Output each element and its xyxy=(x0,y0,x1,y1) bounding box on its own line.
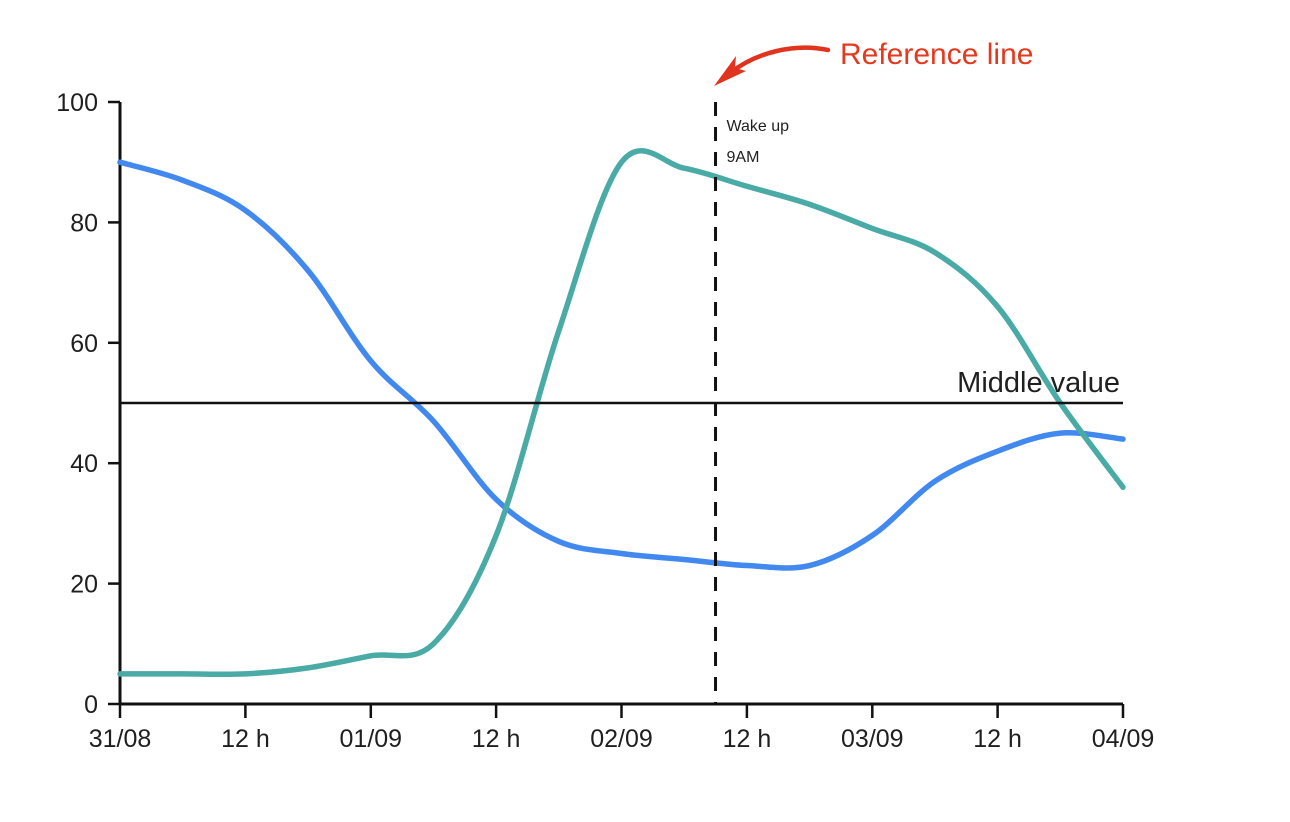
y-axis-ticks xyxy=(108,102,120,704)
line-chart: 0 20 40 60 80 100 31/08 12 h 01/09 12 h … xyxy=(0,0,1290,822)
x-tick-label: 01/09 xyxy=(340,725,403,753)
y-tick-label: 100 xyxy=(56,89,98,117)
reference-note-line2: 9AM xyxy=(727,149,760,166)
reference-line-callout: Reference line xyxy=(714,38,1033,86)
callout-arrow-icon xyxy=(730,48,828,73)
x-tick-label: 12 h xyxy=(472,725,521,753)
series-line-blue xyxy=(120,162,1123,568)
y-tick-label: 20 xyxy=(70,571,98,599)
x-axis-ticks xyxy=(120,704,1123,718)
x-tick-label: 12 h xyxy=(221,725,270,753)
chart-container: 0 20 40 60 80 100 31/08 12 h 01/09 12 h … xyxy=(0,0,1290,822)
x-tick-label: 02/09 xyxy=(590,725,653,753)
middle-value-group: Middle value xyxy=(120,367,1123,403)
y-tick-label: 60 xyxy=(70,330,98,358)
y-axis-tick-labels: 0 20 40 60 80 100 xyxy=(56,89,98,719)
middle-value-label: Middle value xyxy=(957,367,1120,399)
x-axis-tick-labels: 31/08 12 h 01/09 12 h 02/09 12 h 03/09 1… xyxy=(89,725,1155,753)
callout-arrowhead-icon xyxy=(714,56,746,86)
series-layer xyxy=(120,151,1123,675)
x-tick-label: 12 h xyxy=(723,725,772,753)
y-tick-label: 40 xyxy=(70,450,98,478)
y-tick-label: 80 xyxy=(70,209,98,237)
x-tick-label: 12 h xyxy=(973,725,1022,753)
y-tick-label: 0 xyxy=(84,691,98,719)
x-tick-label: 31/08 xyxy=(89,725,152,753)
x-tick-label: 04/09 xyxy=(1092,725,1155,753)
x-tick-label: 03/09 xyxy=(841,725,904,753)
reference-note-line1: Wake up xyxy=(727,118,790,135)
callout-label: Reference line xyxy=(840,38,1033,71)
